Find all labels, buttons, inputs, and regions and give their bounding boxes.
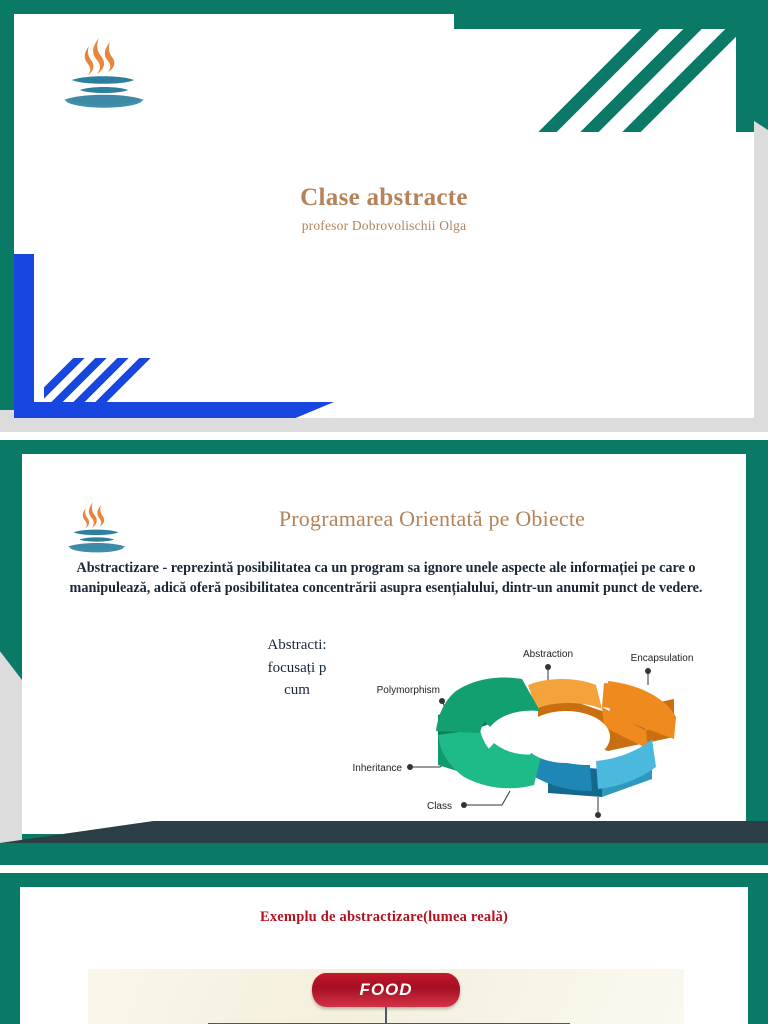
- java-cup-icon: [64, 76, 144, 106]
- slide2-teal-right-band: [750, 440, 768, 865]
- slide1-canvas: Clase abstracte profesor Dobrovolischii …: [14, 14, 754, 418]
- slide1-title-block: Clase abstracte profesor Dobrovolischii …: [14, 184, 754, 234]
- slide2-body-lead: Abstractizare: [76, 560, 158, 576]
- slide1-diagonal-stripes-bottomleft: [44, 358, 154, 404]
- diagram-root-label: FOOD: [359, 980, 412, 1000]
- slide2-note-line-2: focusați p: [237, 657, 357, 680]
- chart-label-encapsulation: Encapsulation: [631, 653, 694, 664]
- java-logo: [52, 494, 140, 562]
- donut-hole: [522, 711, 610, 763]
- slide1-blue-left-strip: [14, 254, 34, 418]
- slide-2[interactable]: Programarea Orientată pe Obiecte Abstrac…: [0, 440, 768, 865]
- chart-label-inheritance: Inheritance: [353, 763, 403, 774]
- java-steam-icon: [85, 38, 115, 75]
- java-logo: [42, 28, 164, 120]
- slide1-title: Clase abstracte: [14, 184, 754, 212]
- slide2-side-note: Abstracti: focusați p cum: [237, 634, 357, 702]
- slide1-blue-bottom-bar: [14, 402, 334, 418]
- slide2-title: Programarea Orientată pe Obiecte: [172, 506, 692, 532]
- diagram-root-node: FOOD: [312, 973, 460, 1007]
- java-cup-icon: [68, 530, 126, 552]
- diagram-root-connector: [385, 1007, 387, 1024]
- slide3-canvas: Exemplu de abstractizare(lumea reală) FO…: [20, 887, 748, 1024]
- slide1-subtitle: profesor Dobrovolischii Olga: [14, 218, 754, 234]
- slide3-title: Exemplu de abstractizare(lumea reală): [20, 909, 748, 926]
- oop-concepts-donut-chart: Abstraction Encapsulation Object Class I…: [352, 619, 732, 834]
- chart-label-polymorphism: Polymorphism: [377, 685, 440, 696]
- slide2-body-paragraph: Abstractizare - reprezintă posibilitatea…: [58, 558, 714, 598]
- slide2-note-line-3: cum: [237, 679, 357, 702]
- slide1-diagonal-stripes-topright: [454, 14, 754, 132]
- food-hierarchy-diagram: FOOD: [88, 969, 684, 1024]
- slide2-teal-left-taper: [0, 440, 22, 680]
- slide2-canvas: Programarea Orientată pe Obiecte Abstrac…: [22, 454, 746, 834]
- slide2-teal-bottom-bar: [0, 843, 768, 865]
- slide2-body-text: - reprezintă posibilitatea ca un program…: [70, 560, 703, 596]
- slide2-note-line-1: Abstracti:: [237, 634, 357, 657]
- slide-1[interactable]: Clase abstracte profesor Dobrovolischii …: [0, 0, 768, 432]
- chart-label-abstraction: Abstraction: [523, 649, 573, 660]
- chart-label-class: Class: [427, 801, 452, 812]
- slides-page: Clase abstracte profesor Dobrovolischii …: [0, 0, 768, 1024]
- slide-3[interactable]: Exemplu de abstractizare(lumea reală) FO…: [0, 873, 768, 1024]
- java-steam-icon: [83, 502, 104, 529]
